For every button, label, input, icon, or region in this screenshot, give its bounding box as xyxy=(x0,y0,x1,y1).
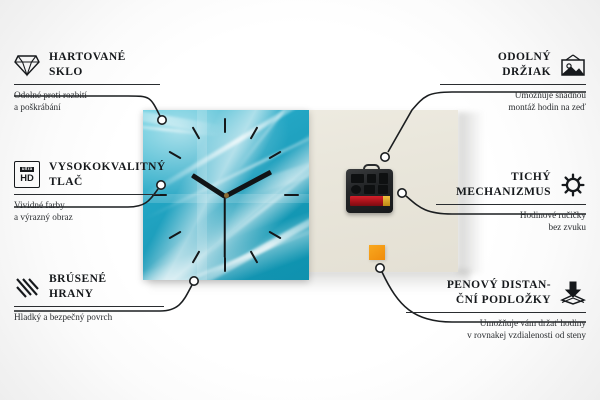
diamond-icon xyxy=(14,52,40,78)
picture-hanger-icon xyxy=(560,52,586,78)
hd-label: HD xyxy=(20,173,34,182)
feature-desc-line1: Hodinové ručičky xyxy=(436,210,586,222)
feature-desc-line1: Umožňuje vám držať hodiny xyxy=(406,318,586,330)
feature-heading: ultra HD VYSOKOKVALITNÝ TLAČ xyxy=(14,160,160,189)
feature-divider xyxy=(14,306,164,307)
feature-desc-line1: Vividné farby xyxy=(14,200,160,212)
feature-heading: HARTOVANÉ SKLO xyxy=(14,50,160,79)
connector-dot-left-3 xyxy=(190,277,198,285)
connector-dot-left-1 xyxy=(158,116,166,124)
feature-heading: TICHÝ MECHANIZMUS xyxy=(436,170,586,199)
feature-beveled-edges: BRÚSENÉ HRANY Hladký a bezpečný povrch xyxy=(14,272,164,324)
feature-desc-line2: bez zvuku xyxy=(436,222,586,234)
product-infographic: HARTOVANÉ SKLO Odolné proti rozbití a po… xyxy=(0,0,600,400)
feature-desc-line2: v rovnakej vzdialenosti od steny xyxy=(406,330,586,342)
ultra-hd-badge: ultra HD xyxy=(14,161,40,188)
beveled-edges-icon xyxy=(14,274,40,300)
connector-dot-right-1 xyxy=(381,153,389,161)
connector-dot-right-2 xyxy=(398,189,406,197)
feature-divider xyxy=(440,84,586,85)
feature-desc-line2: montáž hodin na zeď xyxy=(440,102,586,114)
feature-tempered-glass: HARTOVANÉ SKLO Odolné proti rozbití a po… xyxy=(14,50,160,113)
feature-high-quality-print: ultra HD VYSOKOKVALITNÝ TLAČ Vividné far… xyxy=(14,160,160,223)
feature-title: TICHÝ MECHANIZMUS xyxy=(456,170,551,199)
feature-silent-mechanism: TICHÝ MECHANIZMUS Hodinové ručičky bez z… xyxy=(436,170,586,233)
feature-title: ODOLNÝ DRŽIAK xyxy=(498,50,551,79)
connector-dot-right-3 xyxy=(376,264,384,272)
feature-foam-spacers: PENOVÝ DISTAN- ČNÍ PODLOŽKY Umožňuje vám… xyxy=(406,278,586,341)
feature-heading: PENOVÝ DISTAN- ČNÍ PODLOŽKY xyxy=(406,278,586,307)
feature-desc-line2: a výrazný obraz xyxy=(14,212,160,224)
feature-title: BRÚSENÉ HRANY xyxy=(49,272,106,301)
feature-divider xyxy=(14,84,160,85)
gear-icon xyxy=(560,172,586,198)
feature-title: PENOVÝ DISTAN- ČNÍ PODLOŽKY xyxy=(447,278,551,307)
feature-divider xyxy=(14,194,160,195)
spacer-pad-icon xyxy=(560,280,586,306)
feature-heading: BRÚSENÉ HRANY xyxy=(14,272,164,301)
feature-desc-line1: Umožňuje snadnou xyxy=(440,90,586,102)
feature-heading: ODOLNÝ DRŽIAK xyxy=(440,50,586,79)
feature-divider xyxy=(436,204,586,205)
ultra-hd-icon: ultra HD xyxy=(14,162,40,188)
feature-title: VYSOKOKVALITNÝ TLAČ xyxy=(49,160,166,189)
feature-desc-line1: Hladký a bezpečný povrch xyxy=(14,312,164,324)
feature-title: HARTOVANÉ SKLO xyxy=(49,50,126,79)
feature-durable-hanger: ODOLNÝ DRŽIAK Umožňuje snadnou montáž ho… xyxy=(440,50,586,113)
feature-desc-line1: Odolné proti rozbití xyxy=(14,90,160,102)
feature-divider xyxy=(406,312,586,313)
feature-desc-line2: a poškrábání xyxy=(14,102,160,114)
